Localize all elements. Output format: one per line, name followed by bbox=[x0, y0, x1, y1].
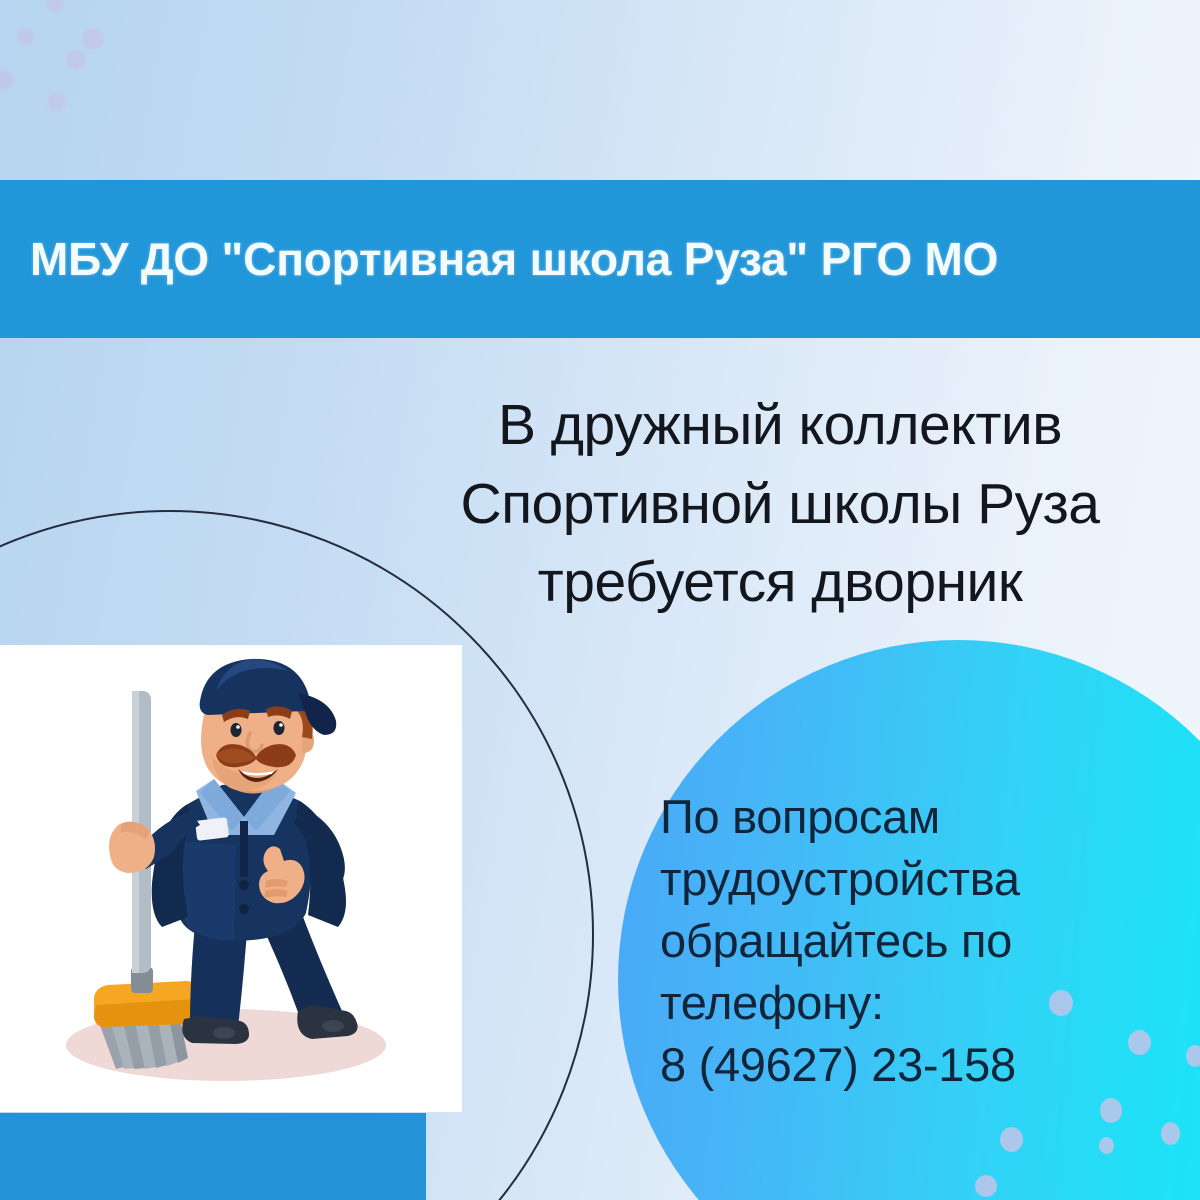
contact-line-2: трудоустройства bbox=[660, 848, 1130, 910]
contact-line-4: телефону: bbox=[660, 972, 1130, 1034]
decor-dot-lavender bbox=[82, 28, 104, 50]
organization-title: МБУ ДО "Спортивная школа Руза" РГО МО bbox=[30, 232, 998, 286]
contact-phone-number[interactable]: 8 (49627) 23-158 bbox=[660, 1034, 1130, 1096]
decor-dot-lavender bbox=[0, 70, 14, 90]
organization-banner: МБУ ДО "Спортивная школа Руза" РГО МО bbox=[0, 180, 1200, 338]
bottom-accent-bar bbox=[0, 1113, 426, 1200]
headline-line-3: требуется дворник bbox=[380, 543, 1180, 622]
headline-line-2: Спортивной школы Руза bbox=[380, 465, 1180, 544]
headline-line-1: В дружный коллектив bbox=[380, 386, 1180, 465]
decor-dot-lavender bbox=[17, 28, 34, 45]
decor-dot-lavender bbox=[66, 50, 86, 70]
janitor-illustration bbox=[0, 645, 462, 1112]
headline-block: В дружный коллектив Спортивной школы Руз… bbox=[380, 386, 1180, 622]
poster-canvas: МБУ ДО "Спортивная школа Руза" РГО МО В … bbox=[0, 0, 1200, 1200]
janitor-photo-frame bbox=[0, 645, 462, 1112]
contact-line-3: обращайтесь по bbox=[660, 910, 1130, 972]
contact-line-1: По вопросам bbox=[660, 786, 1130, 848]
decor-dot-lavender bbox=[46, 0, 64, 12]
decor-dot-lavender bbox=[47, 93, 66, 112]
contact-block: По вопросам трудоустройства обращайтесь … bbox=[660, 786, 1130, 1096]
